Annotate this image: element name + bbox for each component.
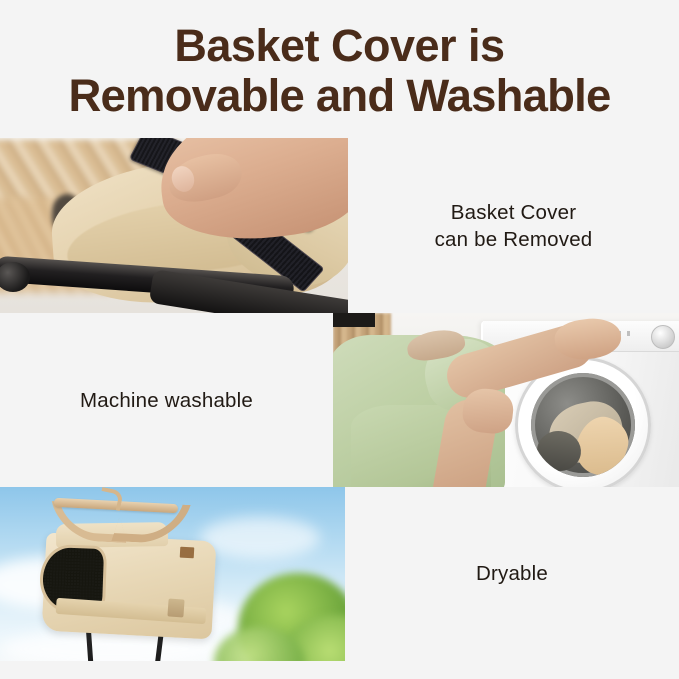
feature-row-machine-washable: Machine washable	[0, 313, 679, 488]
washing-machine-photo	[333, 313, 679, 488]
page-title: Basket Cover is Removable and Washable	[0, 22, 679, 120]
feature-caption-removable: Basket Cover can be Removed	[348, 138, 679, 314]
feature-photo-dryable	[0, 487, 345, 661]
cloud	[200, 517, 320, 559]
feature-row-dryable: Dryable	[0, 487, 679, 661]
caption-text-dryable: Dryable	[476, 560, 548, 587]
velcro-cover-photo	[0, 138, 348, 314]
title-line-1: Basket Cover is	[0, 22, 679, 71]
strap-buckle	[167, 598, 184, 617]
washer-door-glass	[531, 373, 635, 477]
hanging-cover-photo	[0, 487, 345, 661]
caption-text-machine-washable: Machine washable	[80, 387, 253, 414]
feature-photo-removable	[0, 138, 348, 314]
program-dial	[651, 325, 675, 349]
feature-caption-dryable: Dryable	[345, 487, 679, 661]
infographic-page: Basket Cover is Removable and Washable	[0, 0, 679, 679]
feature-caption-machine-washable: Machine washable	[0, 313, 333, 488]
dark-corner	[333, 313, 375, 327]
title-line-2: Removable and Washable	[0, 71, 679, 120]
feature-photo-machine-washable	[333, 313, 679, 488]
feature-row-removable: Basket Cover can be Removed	[0, 138, 679, 314]
brand-logo-patch	[180, 547, 195, 559]
caption-text-removable: Basket Cover can be Removed	[435, 199, 593, 253]
hanger-hook	[98, 487, 124, 511]
